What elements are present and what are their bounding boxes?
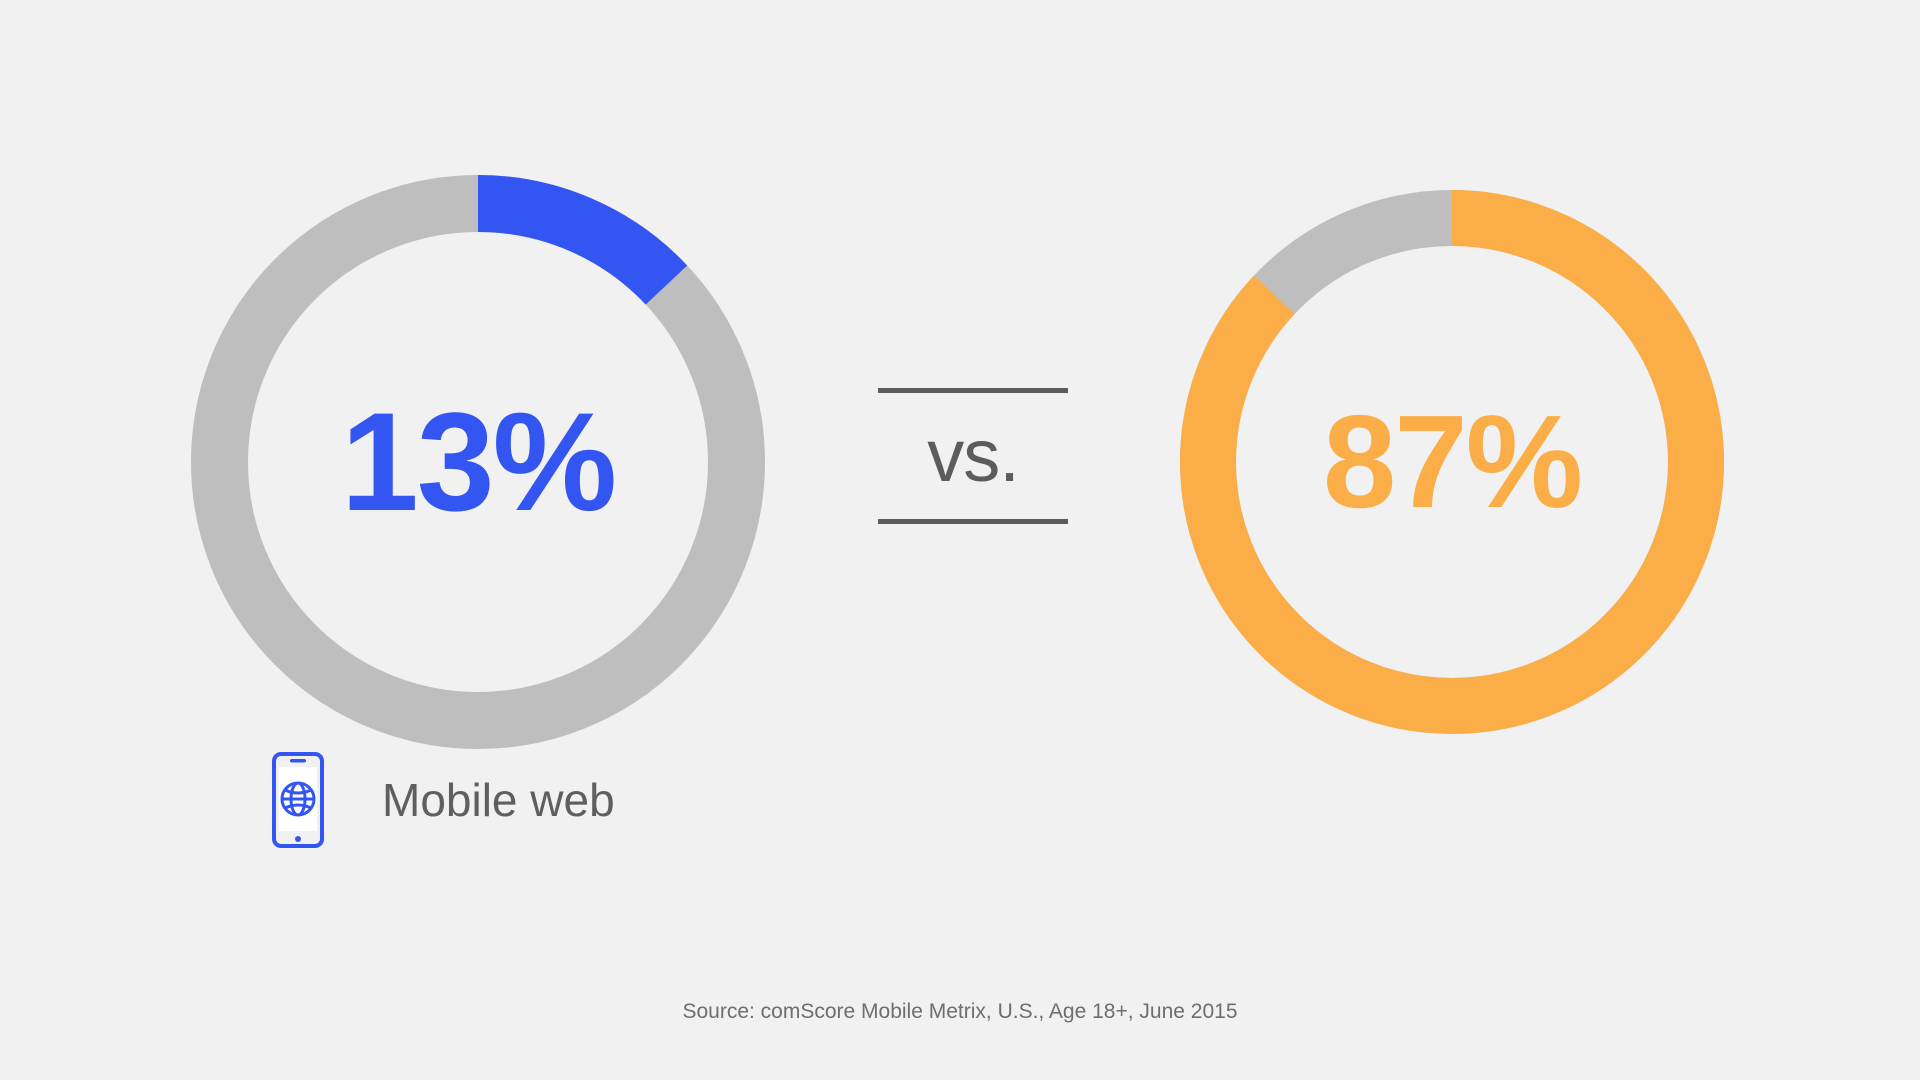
mobile-phone-globe-icon-svg	[272, 752, 324, 848]
mobile-phone-globe-icon	[272, 752, 324, 848]
legend-mobile-web: Mobile web	[272, 752, 702, 848]
mobile-web-donut-svg	[191, 175, 765, 749]
infographic-canvas: 13% Mobile we	[0, 0, 1920, 1080]
apps-donut: 87%	[1180, 190, 1724, 734]
mobile-web-donut: 13%	[191, 175, 765, 749]
mobile-web-panel: 13% Mobile we	[0, 0, 960, 1080]
source-note: Source: comScore Mobile Metrix, U.S., Ag…	[0, 1000, 1920, 1024]
legend-label-mobile-web: Mobile web	[382, 773, 615, 827]
apps-donut-svg	[1180, 190, 1724, 734]
apps-panel: 87% Apps	[960, 0, 1920, 1080]
